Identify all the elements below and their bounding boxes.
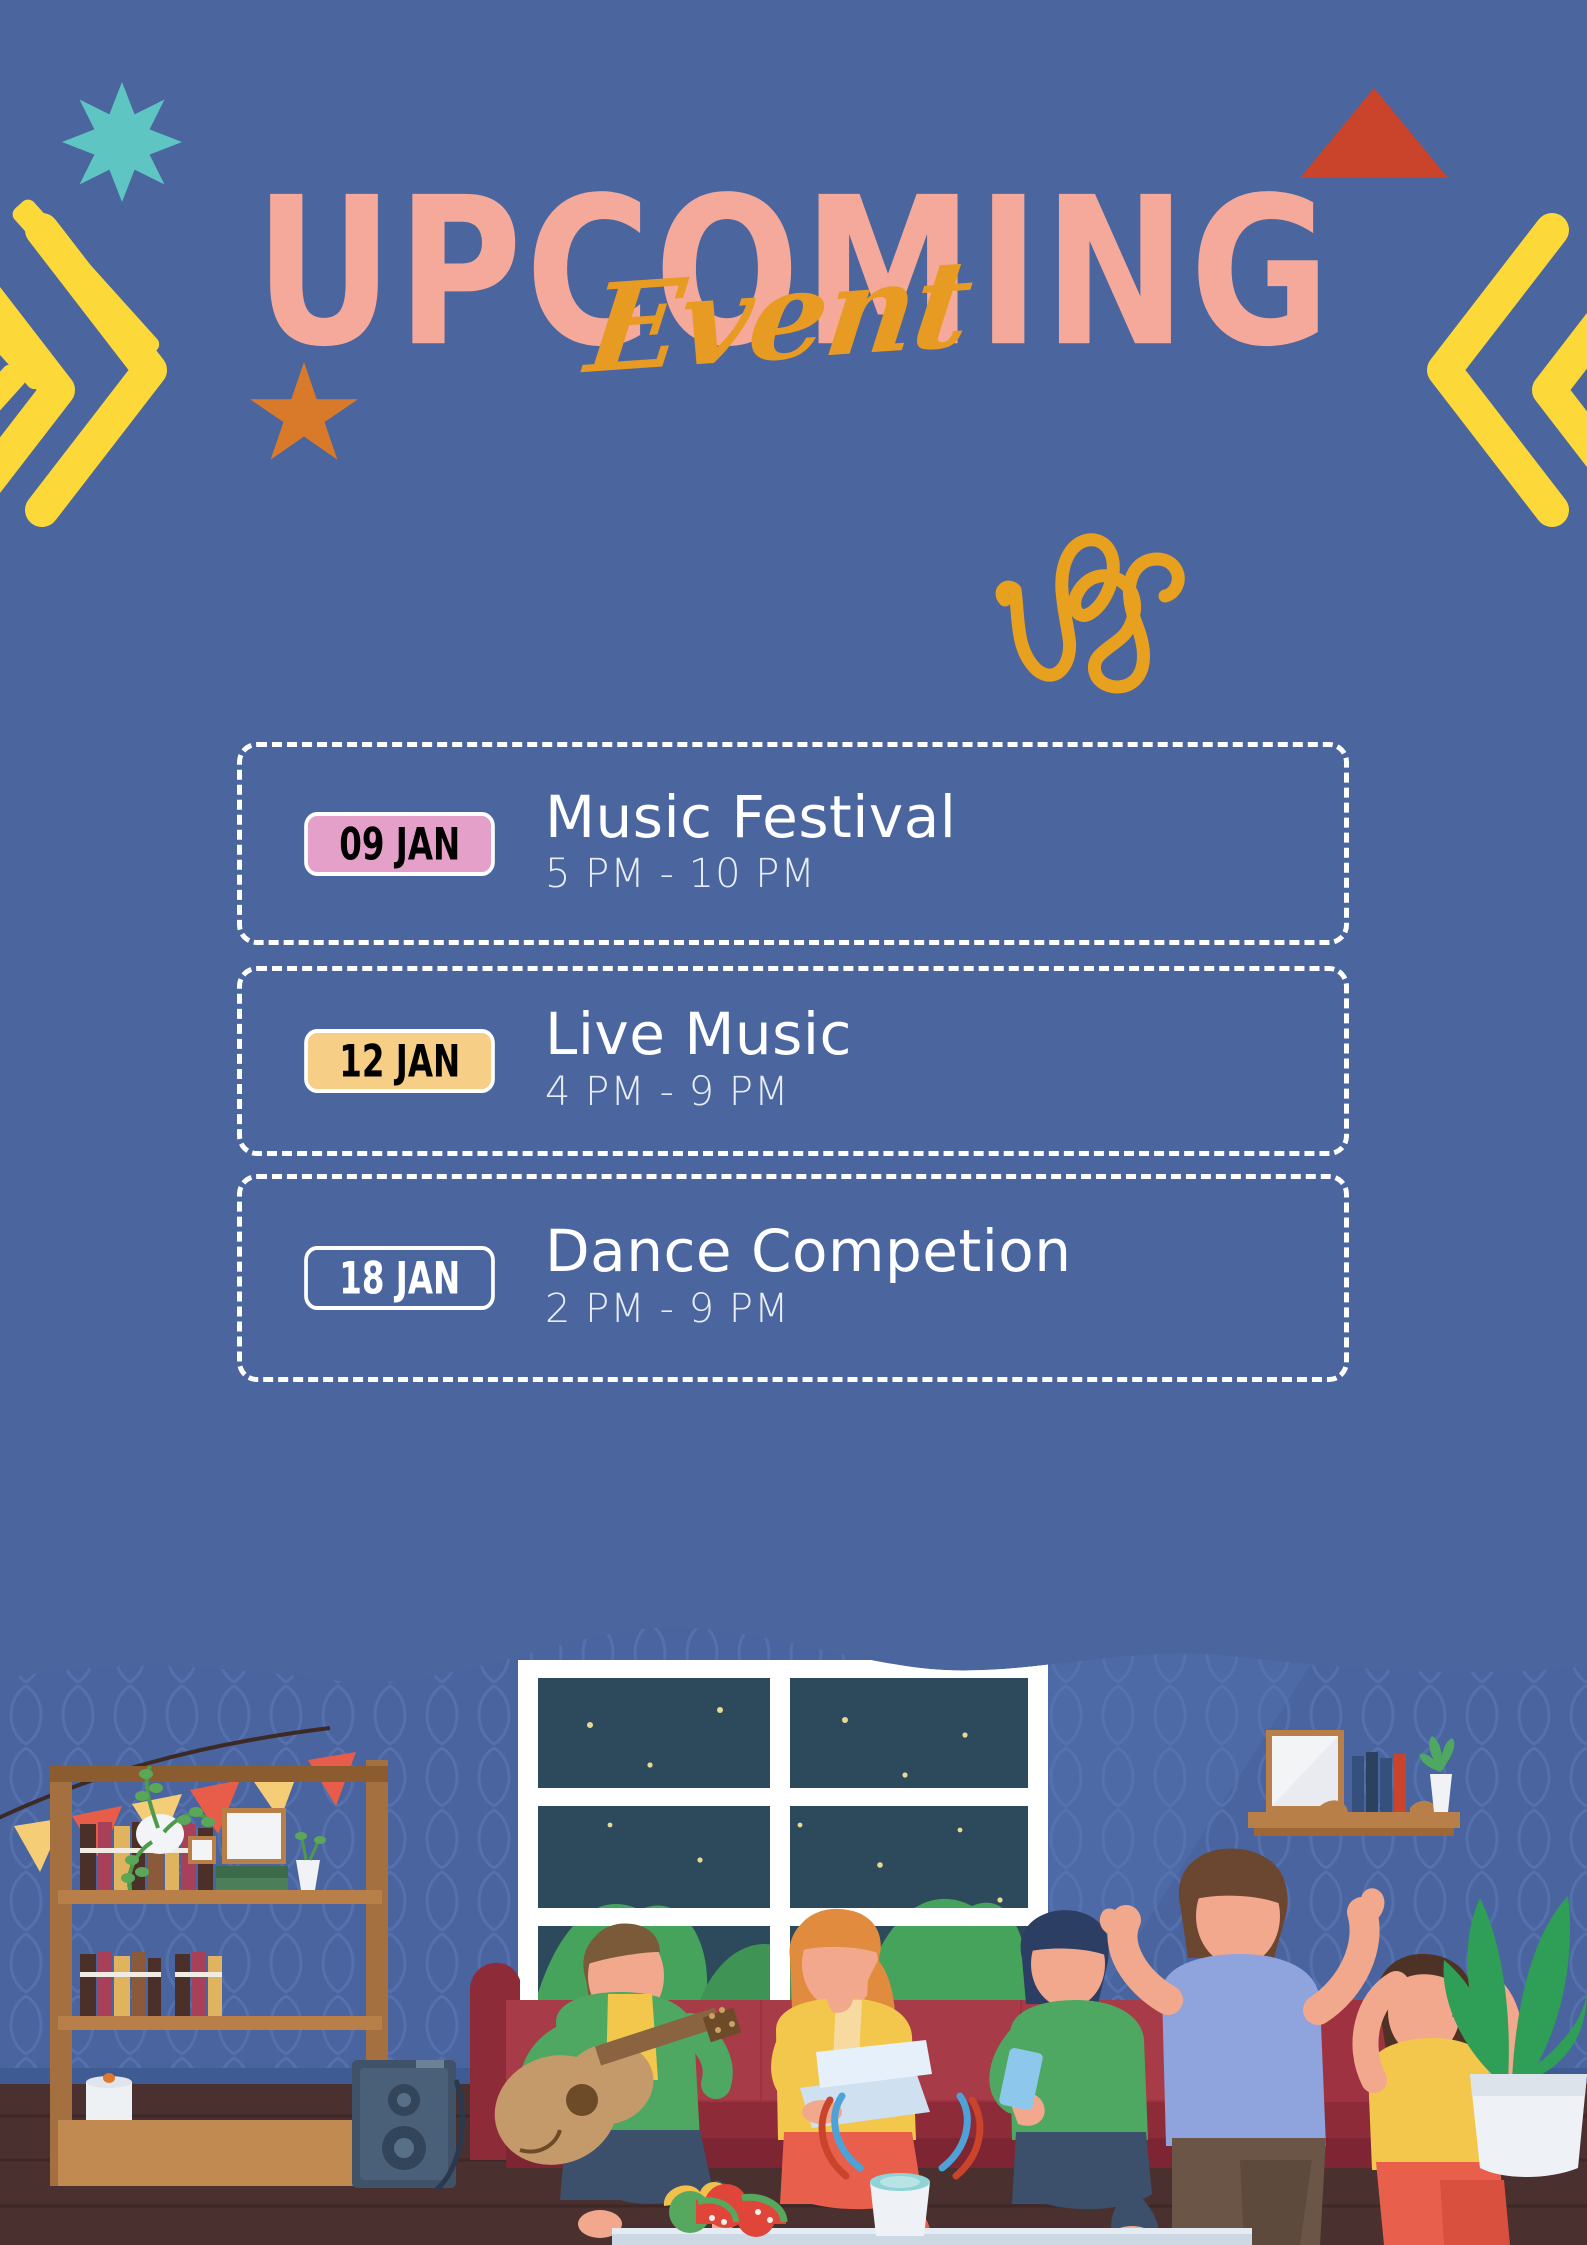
coffee-table [612,2228,1252,2245]
event-card-3[interactable]: 18 JAN Dance Competion 2 PM - 9 PM [237,1174,1349,1382]
event-date-text-2: 12 JAN [339,1035,460,1087]
poster-canvas: UPCOMING Event 09 JAN Music Festival 5 P… [0,0,1587,2245]
event-time-3: 2 PM - 9 PM [545,1284,1072,1334]
event-title-2: Live Music [545,1005,852,1064]
event-time-2: 4 PM - 9 PM [545,1067,852,1117]
squiggle-doodle-icon [985,520,1205,710]
house-party-illustration [0,1560,1587,2245]
title-event-script: Event [580,242,976,390]
event-title-1: Music Festival [545,788,956,847]
event-date-badge-2[interactable]: 12 JAN [304,1029,495,1093]
event-time-1: 5 PM - 10 PM [545,849,956,899]
event-date-text-3: 18 JAN [339,1252,460,1304]
event-date-badge-3[interactable]: 18 JAN [304,1246,495,1310]
event-date-badge-1[interactable]: 09 JAN [304,812,495,876]
event-title-3: Dance Competion [545,1222,1072,1281]
event-info-2: Live Music 4 PM - 9 PM [545,1005,852,1116]
event-card-2[interactable]: 12 JAN Live Music 4 PM - 9 PM [237,966,1349,1156]
event-info-3: Dance Competion 2 PM - 9 PM [545,1222,1072,1333]
event-list: 09 JAN Music Festival 5 PM - 10 PM 12 JA… [237,742,1349,1382]
event-card-1[interactable]: 09 JAN Music Festival 5 PM - 10 PM [237,742,1349,945]
floor-speaker [352,2060,456,2188]
event-date-text-1: 09 JAN [339,818,460,870]
event-info-1: Music Festival 5 PM - 10 PM [545,788,956,899]
